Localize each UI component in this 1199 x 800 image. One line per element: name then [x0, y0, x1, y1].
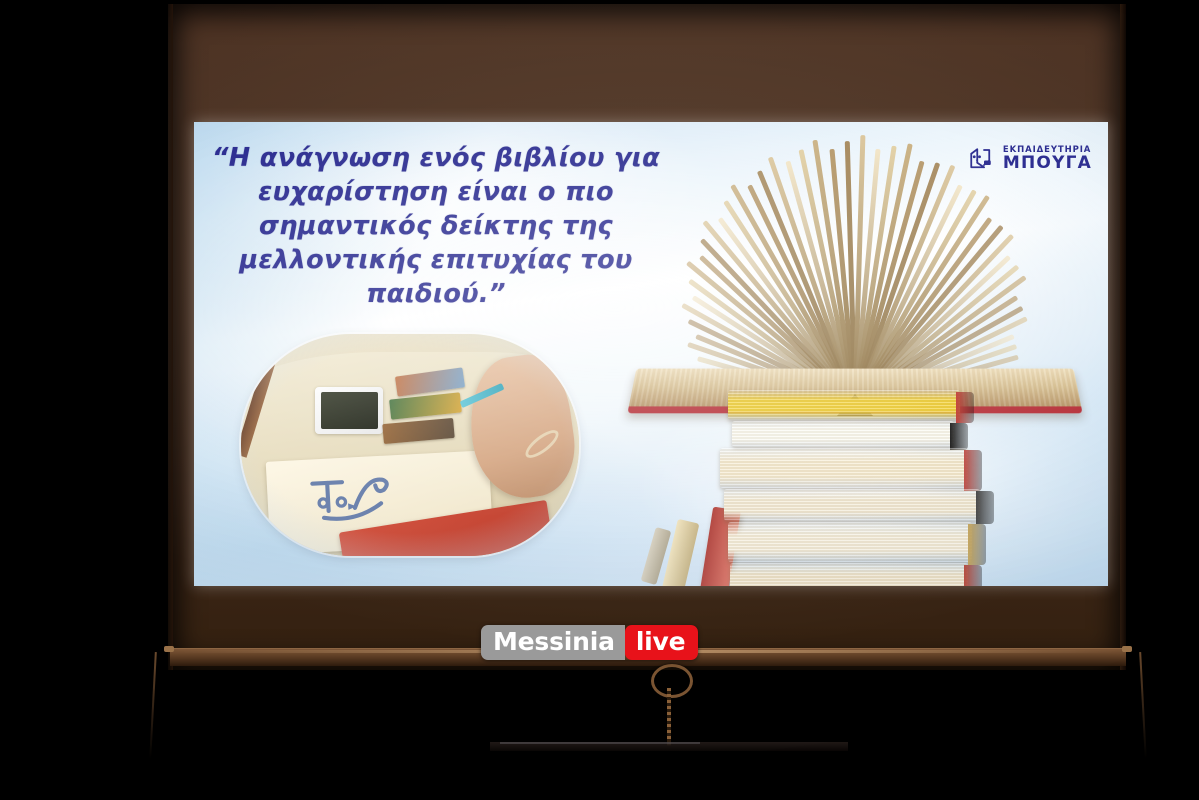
school-logo: ΕΚΠΑΙΔΕΥΤΗΡΙΑ ΜΠΟΥΓΑ: [966, 144, 1092, 174]
book-spine: [968, 524, 986, 565]
book-spine: [956, 392, 974, 423]
screen-right-edge: [1120, 4, 1126, 670]
book-page-edges: [730, 563, 968, 586]
inset-photo-desk-scene: [241, 334, 579, 556]
screen-side-cord-right: [1139, 652, 1147, 760]
book-spine: [976, 491, 994, 524]
logo-wordmark: ΕΚΠΑΙΔΕΥΤΗΡΙΑ ΜΠΟΥΓΑ: [1003, 146, 1092, 173]
photo-of-projection-screen: “Η ανάγνωση ενός βιβλίου για ευχαρίστηση…: [0, 0, 1199, 800]
stacked-book: [730, 563, 968, 586]
screen-left-edge: [168, 4, 173, 670]
stacked-book: [732, 421, 954, 447]
screen-pull-ring[interactable]: [651, 664, 693, 698]
book-page-edges: [732, 421, 954, 447]
stacked-book: [728, 390, 960, 420]
logo-line-2: ΜΠΟΥΓΑ: [1003, 155, 1092, 172]
watermark-name: Messinia: [481, 625, 625, 660]
stacked-book: [720, 448, 968, 488]
stacked-book: [728, 522, 972, 562]
slide-quote-text: “Η ανάγνωση ενός βιβλίου για ευχαρίστηση…: [210, 142, 662, 312]
bar-end-cap-left: [164, 646, 174, 652]
projected-slide: “Η ανάγνωση ενός βιβλίου για ευχαρίστηση…: [194, 122, 1108, 586]
bar-end-cap-right: [1122, 646, 1132, 652]
book-page-edges: [720, 448, 968, 488]
watermark-live-badge: live: [625, 625, 699, 660]
messinia-live-watermark: Messinia live: [481, 625, 698, 660]
book-page-edges: [728, 522, 972, 562]
book-spine: [964, 450, 982, 491]
book-spine: [950, 423, 968, 450]
stacked-book: [724, 489, 980, 521]
book-page-edges: [724, 489, 980, 521]
book-stack-illustration: [714, 390, 1064, 586]
inset-vignette: [241, 334, 579, 556]
background-rail-highlight: [500, 742, 700, 744]
owl-icon: [966, 144, 996, 174]
book-page-edges: [728, 390, 960, 420]
screen-side-cord-left: [149, 652, 157, 760]
book-spine: [964, 565, 982, 586]
screen-pull-chain[interactable]: [667, 688, 671, 746]
